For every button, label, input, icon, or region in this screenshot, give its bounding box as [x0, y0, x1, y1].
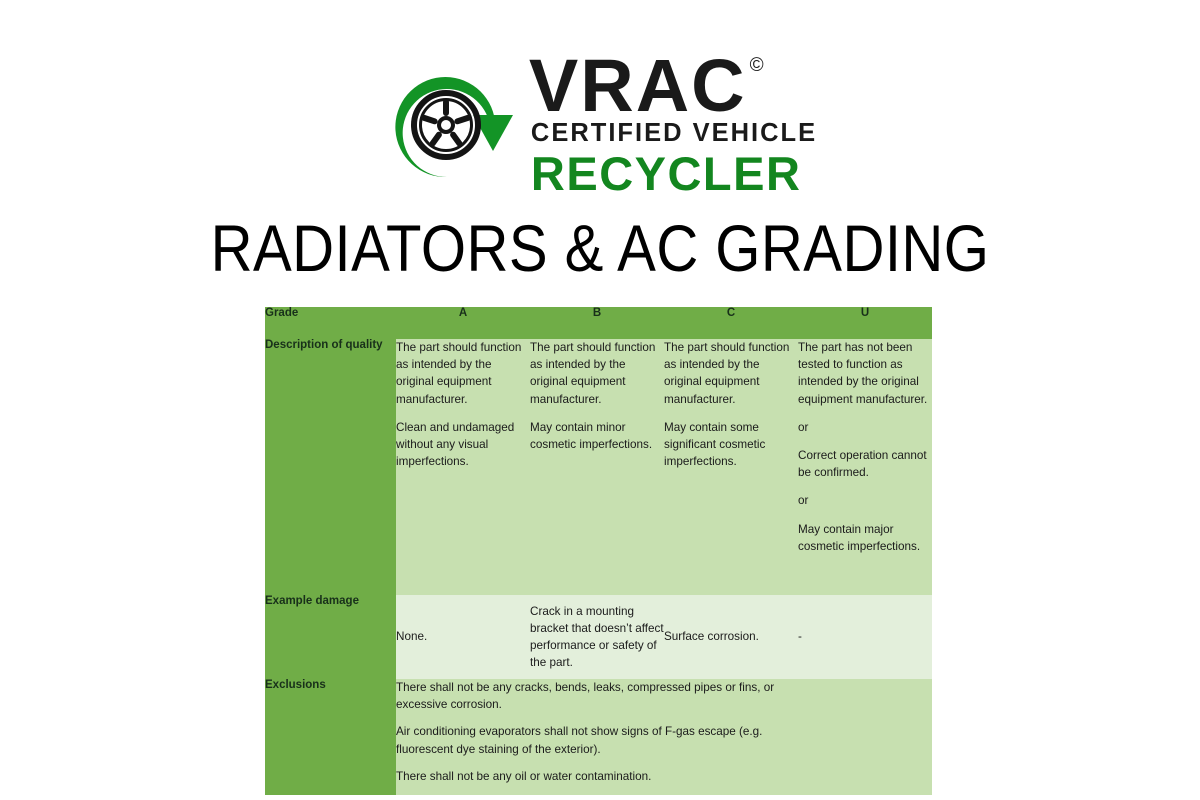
cell-description-a: The part should function as intended by … [396, 339, 530, 595]
copyright-icon: © [750, 56, 764, 75]
cell-description-c-p2: May contain some significant cosmetic im… [664, 419, 798, 471]
cell-description-u-p1: The part has not been tested to function… [798, 339, 932, 408]
row-label-example-damage: Example damage [265, 595, 396, 679]
cell-description-u-p3: Correct operation cannot be confirmed. [798, 447, 932, 481]
logo-letter-r: R [580, 54, 635, 118]
header-grade-b: B [530, 307, 664, 339]
logo-inner: V R AC © CERTIFIED VEHICLE RECYCLER [383, 52, 817, 198]
vrac-logo: V R AC © CERTIFIED VEHICLE RECYCLER [0, 52, 1200, 202]
logo-wordmark-block: V R AC © CERTIFIED VEHICLE RECYCLER [529, 52, 817, 198]
cell-description-a-p1: The part should function as intended by … [396, 339, 530, 408]
cell-description-u: The part has not been tested to function… [798, 339, 932, 595]
cell-example-damage-u: - [798, 595, 932, 679]
cell-example-damage-u-text: - [798, 628, 932, 645]
cell-exclusions-item-1: There shall not be any cracks, bends, le… [396, 679, 798, 713]
logo-recycler-word: RECYCLER [531, 150, 802, 198]
row-label-description: Description of quality [265, 339, 396, 595]
logo-letters-ac: AC [636, 54, 747, 118]
logo-letter-v: V [529, 54, 580, 118]
cell-description-a-p2: Clean and undamaged without any visual i… [396, 419, 530, 471]
recycling-arrow-wheel-icon [383, 59, 523, 191]
table-header-row: Grade A B C U [265, 307, 932, 339]
cell-exclusions-item-2: Air conditioning evaporators shall not s… [396, 723, 798, 757]
header-grade-label: Grade [265, 307, 396, 339]
cell-description-u-p2: or [798, 419, 932, 436]
cell-example-damage-b: Crack in a mounting bracket that doesn’t… [530, 595, 664, 679]
page-root: V R AC © CERTIFIED VEHICLE RECYCLER RADI… [0, 0, 1200, 800]
cell-description-u-p4: or [798, 492, 932, 509]
cell-description-c: The part should function as intended by … [664, 339, 798, 595]
header-grade-u: U [798, 307, 932, 339]
cell-description-b-p1: The part should function as intended by … [530, 339, 664, 408]
cell-example-damage-a: None. [396, 595, 530, 679]
header-grade-c: C [664, 307, 798, 339]
grading-table: Grade A B C U Description of quality The… [265, 307, 932, 795]
table-row-description-of-quality: Description of quality The part should f… [265, 339, 932, 595]
cell-example-damage-c-text: Surface corrosion. [664, 628, 798, 645]
page-title: RADIATORS & AC GRADING [72, 210, 1128, 286]
cell-example-damage-b-text: Crack in a mounting bracket that doesn’t… [530, 603, 664, 672]
cell-description-u-p5: May contain major cosmetic imperfections… [798, 521, 932, 555]
cell-example-damage-c: Surface corrosion. [664, 595, 798, 679]
header-grade-a: A [396, 307, 530, 339]
cell-description-b: The part should function as intended by … [530, 339, 664, 595]
cell-example-damage-a-text: None. [396, 628, 530, 645]
table-row-exclusions: Exclusions There shall not be any cracks… [265, 679, 932, 795]
cell-exclusions-u [798, 679, 932, 795]
row-label-exclusions: Exclusions [265, 679, 396, 795]
logo-wordmark-row: V R AC © [529, 54, 764, 118]
table-row-example-damage: Example damage None. Crack in a mounting… [265, 595, 932, 679]
cell-exclusions-list: There shall not be any cracks, bends, le… [396, 679, 798, 795]
cell-description-c-p1: The part should function as intended by … [664, 339, 798, 408]
cell-description-b-p2: May contain minor cosmetic imperfections… [530, 419, 664, 453]
cell-exclusions-item-3: There shall not be any oil or water cont… [396, 768, 798, 785]
